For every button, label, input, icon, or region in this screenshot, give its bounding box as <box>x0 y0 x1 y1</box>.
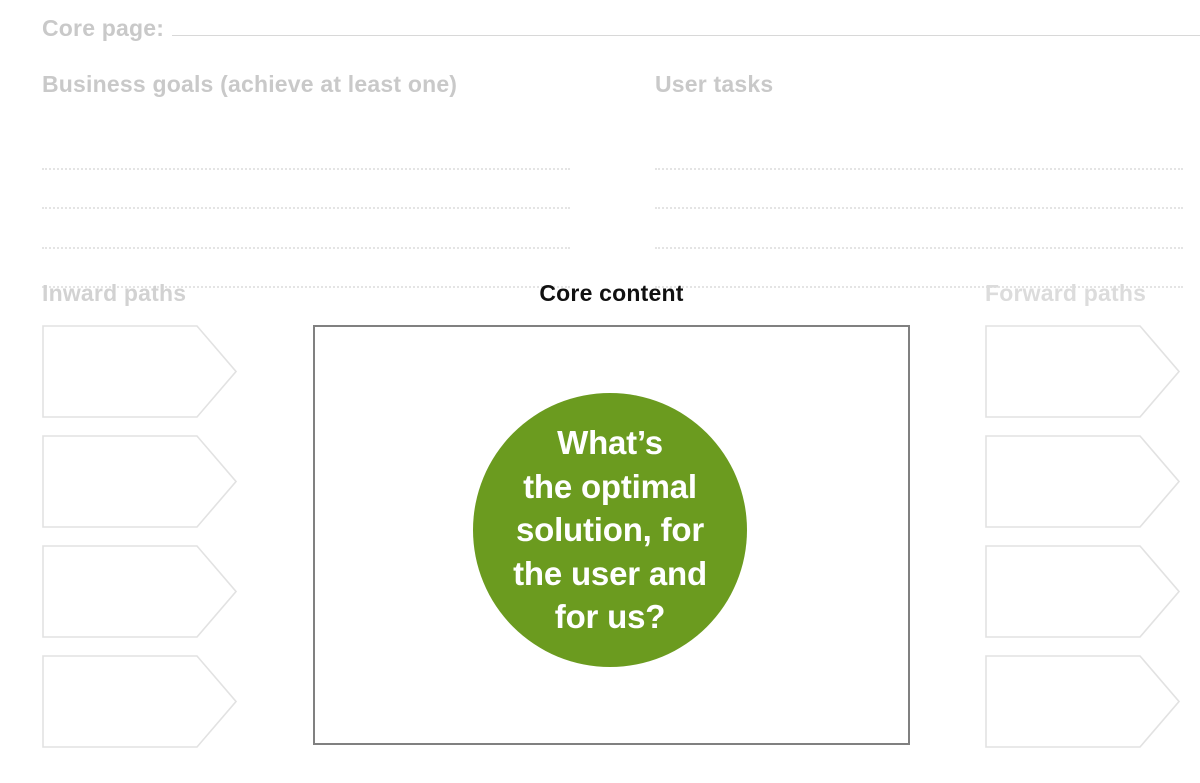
inward-paths-column <box>42 325 242 765</box>
user-task-line[interactable] <box>655 170 1183 210</box>
arrow-right-icon <box>985 655 1180 748</box>
user-tasks-heading: User tasks <box>655 71 773 98</box>
business-goal-line[interactable] <box>42 209 570 249</box>
core-question-circle: What’s the optimal solution, for the use… <box>473 393 747 667</box>
arrow-right-icon <box>42 325 237 418</box>
core-page-input-rule[interactable] <box>172 13 1200 36</box>
forward-paths-label: Forward paths <box>985 280 1146 307</box>
arrow-right-icon <box>985 545 1180 638</box>
user-task-line[interactable] <box>655 209 1183 249</box>
inward-path-arrow[interactable] <box>42 435 237 528</box>
arrow-right-icon <box>42 545 237 638</box>
core-model-worksheet: Core page: Business goals (achieve at le… <box>0 0 1200 783</box>
core-page-label: Core page: <box>42 15 164 42</box>
forward-path-arrow[interactable] <box>985 435 1180 528</box>
user-tasks-lines <box>655 130 1183 288</box>
core-content-label: Core content <box>313 280 910 307</box>
core-page-field[interactable]: Core page: <box>42 13 1200 53</box>
forward-path-arrow[interactable] <box>985 325 1180 418</box>
business-goals-lines <box>42 130 570 288</box>
business-goal-line[interactable] <box>42 170 570 210</box>
arrow-right-icon <box>42 655 237 748</box>
inward-path-arrow[interactable] <box>42 655 237 748</box>
business-goal-line[interactable] <box>42 130 570 170</box>
inward-path-arrow[interactable] <box>42 325 237 418</box>
arrow-right-icon <box>42 435 237 528</box>
forward-path-arrow[interactable] <box>985 655 1180 748</box>
forward-paths-column <box>985 325 1185 765</box>
user-task-line[interactable] <box>655 130 1183 170</box>
forward-path-arrow[interactable] <box>985 545 1180 638</box>
core-question-text: What’s the optimal solution, for the use… <box>505 421 715 639</box>
inward-path-arrow[interactable] <box>42 545 237 638</box>
arrow-right-icon <box>985 325 1180 418</box>
business-goals-heading: Business goals (achieve at least one) <box>42 71 457 98</box>
inward-paths-label: Inward paths <box>42 280 186 307</box>
arrow-right-icon <box>985 435 1180 528</box>
